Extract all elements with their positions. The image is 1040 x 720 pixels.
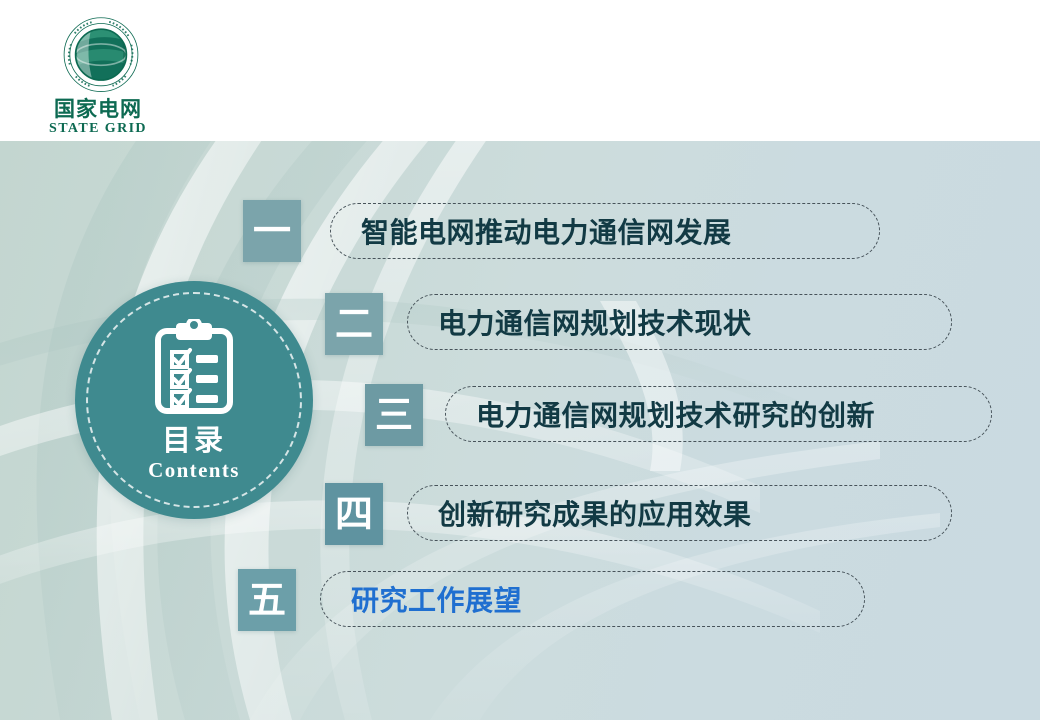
toc-number-2: 二 [325,293,383,355]
state-grid-logo: 国家电网 STATE GRID [33,12,163,134]
toc-number-1: 一 [243,200,301,262]
logo-name-en: STATE GRID [33,122,163,136]
state-grid-globe-emblem [60,12,142,94]
toc-label-5: 研究工作展望 [321,579,522,619]
toc-label-3: 电力通信网规划技术研究的创新 [446,394,875,434]
toc-number-4: 四 [325,483,383,545]
toc-pill-2[interactable]: 电力通信网规划技术现状 [407,294,952,350]
toc-label-4: 创新研究成果的应用效果 [408,493,752,533]
toc-label-2: 电力通信网规划技术现状 [408,302,752,342]
presentation-slide: 目录 Contents 一 智能电网推动电力通信网发展 二 电力通信网规划技术现… [0,0,1040,720]
toc-pill-4[interactable]: 创新研究成果的应用效果 [407,485,952,541]
toc-pill-3[interactable]: 电力通信网规划技术研究的创新 [445,386,992,442]
toc-label-1: 智能电网推动电力通信网发展 [331,211,732,251]
toc-pill-1[interactable]: 智能电网推动电力通信网发展 [330,203,880,259]
toc-number-3: 三 [365,384,423,446]
toc-pill-5[interactable]: 研究工作展望 [320,571,865,627]
logo-name-cn: 国家电网 [33,98,163,120]
toc-number-5: 五 [238,569,296,631]
slide-header: 国家电网 STATE GRID [0,0,1040,141]
